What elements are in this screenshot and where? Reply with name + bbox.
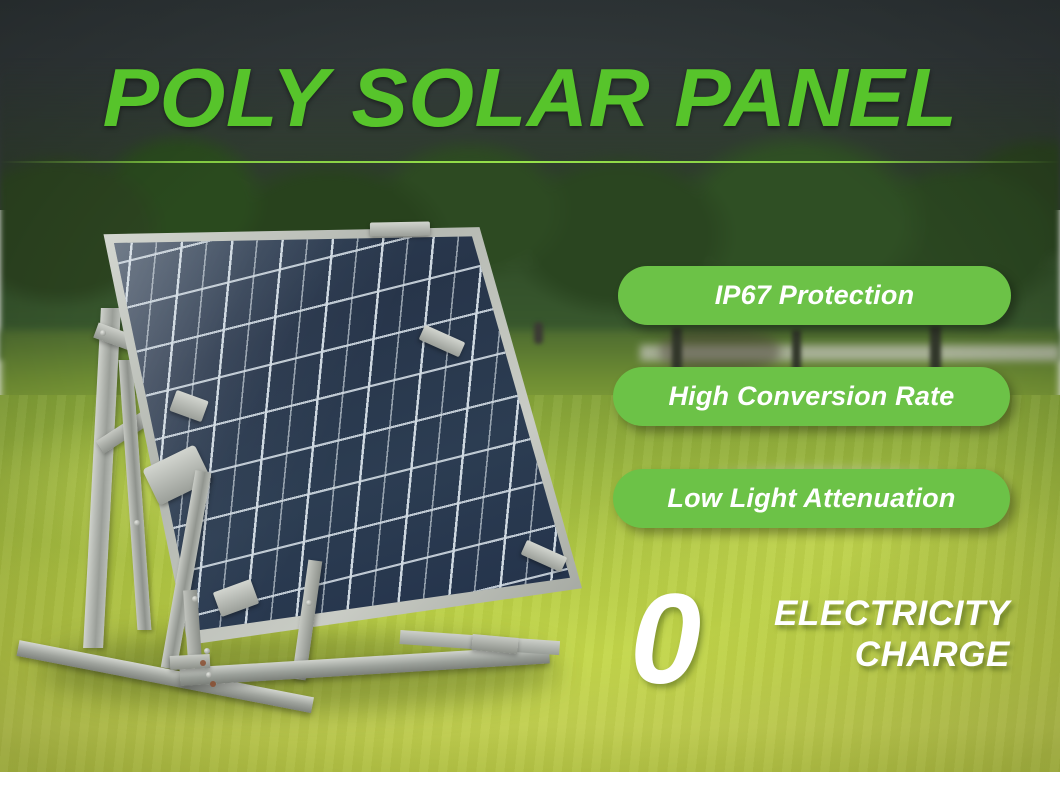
bolt — [100, 330, 106, 336]
feature-pill-low-light[interactable]: Low Light Attenuation — [613, 469, 1010, 528]
bolt — [204, 648, 210, 654]
panel-glare — [82, 225, 582, 645]
charge-text: ELECTRICITY CHARGE — [738, 593, 1010, 675]
panel-top-clamp — [370, 221, 430, 236]
charge-line-2: CHARGE — [738, 634, 1010, 675]
feature-pill-conversion-rate[interactable]: High Conversion Rate — [613, 367, 1010, 426]
bolt — [192, 596, 198, 602]
bolt — [206, 672, 212, 678]
bottom-white-strip — [0, 772, 1060, 790]
bolt — [306, 600, 312, 606]
zero-numeral: 0 — [630, 585, 701, 695]
rust-mark — [210, 681, 216, 687]
rust-mark — [200, 660, 206, 666]
solar-panel-module — [82, 225, 582, 645]
charge-line-1: ELECTRICITY — [738, 593, 1010, 634]
poly-solar-panel-banner: POLY SOLAR PANEL — [0, 0, 1060, 790]
bolt — [134, 520, 140, 526]
zero-electricity-charge: 0 ELECTRICITY CHARGE — [630, 585, 1010, 695]
feature-pill-ip67[interactable]: IP67 Protection — [618, 266, 1011, 325]
